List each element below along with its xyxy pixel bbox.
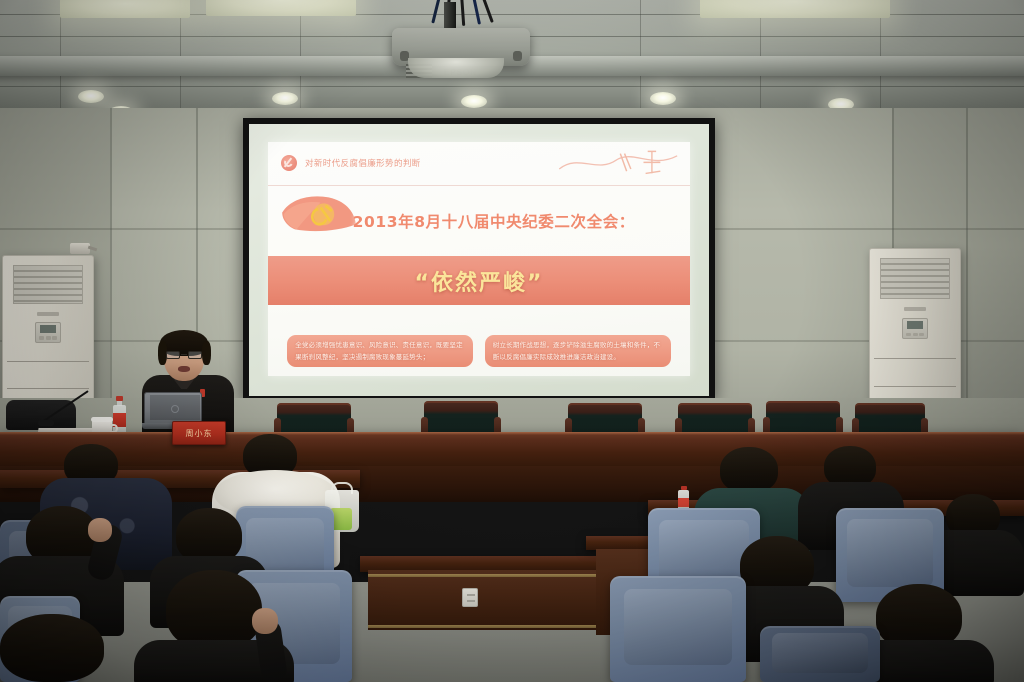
ceiling-downlight — [650, 92, 676, 105]
ac-button[interactable] — [46, 336, 51, 339]
slide-box-left-text: 全党必须增强忧患意识、风险意识、责任意识，既要坚定果断刹风整纪，坚决遏制腐败现象… — [295, 339, 465, 363]
power-outlet[interactable] — [462, 588, 478, 607]
conference-hall-photo: EPSON — [0, 0, 1024, 682]
screen-surface: 对新时代反腐倡廉形势的判断 — [249, 124, 709, 396]
slide-banner-text: “依然严峻” — [415, 265, 544, 297]
decorative-calligraphy-icon — [555, 147, 681, 180]
audience-member — [720, 447, 778, 493]
audience-seat[interactable] — [760, 626, 880, 682]
ceiling-projector: EPSON — [386, 0, 536, 84]
slide-banner: “依然严峻” — [268, 256, 689, 305]
ac-control-panel[interactable] — [35, 322, 60, 343]
ceiling-panel-light — [700, 0, 890, 18]
audience-member — [0, 614, 104, 682]
ac-display — [40, 325, 57, 333]
presentation-slide: 对新时代反腐倡廉形势的判断 — [268, 142, 689, 376]
ceiling-downlight — [272, 92, 298, 105]
ac-brand-logo — [37, 312, 59, 316]
ceiling-panel-light — [206, 0, 356, 16]
slide-box-left: 全党必须增强忧患意识、风险意识、责任意识，既要坚定果断刹风整纪，坚决遏制腐败现象… — [287, 335, 473, 367]
ceiling-downlight — [78, 90, 104, 103]
surveillance-camera — [70, 243, 96, 257]
nameplate: 周小东 — [172, 421, 226, 445]
party-emblem-icon — [281, 155, 297, 171]
presenter-mouth — [178, 366, 190, 372]
projector-cables — [432, 0, 496, 30]
slide-box-right-text: 树立长期作战思想，逐步铲除滋生腐败的土壤和条件，不断以反腐倡廉实际成效推进廉洁政… — [493, 339, 663, 363]
slide-content-boxes: 全党必须增强忧患意识、风险意识、责任意识，既要坚定果断刹风整纪，坚决遏制腐败现象… — [268, 305, 689, 375]
ac-vent-grille — [13, 265, 83, 304]
ac-brand-logo — [904, 307, 926, 311]
audience-hand — [252, 608, 278, 634]
ac-button[interactable] — [913, 333, 918, 337]
ac-button[interactable] — [906, 333, 911, 337]
slide-title-row: 2013年8月十八届中央纪委二次全会： — [268, 186, 689, 256]
ac-button[interactable] — [52, 336, 57, 339]
ac-display — [907, 321, 924, 329]
slide-box-right: 树立长期作战思想，逐步铲除滋生腐败的土壤和条件，不断以反腐倡廉实际成效推进廉洁政… — [485, 335, 671, 367]
nameplate-text: 周小东 — [186, 428, 213, 439]
air-conditioner-right — [869, 248, 961, 406]
presenter-glasses — [166, 351, 202, 359]
slide-title: 2013年8月十八届中央纪委二次全会： — [268, 210, 689, 232]
ceiling-downlight — [461, 95, 487, 108]
ac-vent-grille — [880, 258, 950, 299]
audience-seat[interactable] — [610, 576, 746, 682]
slide-header: 对新时代反腐倡廉形势的判断 — [268, 142, 689, 186]
ceiling-panel-light — [60, 0, 190, 18]
projection-screen: 对新时代反腐倡廉形势的判断 — [243, 118, 715, 400]
audience-hand — [88, 518, 112, 542]
slide-header-text: 对新时代反腐倡廉形势的判断 — [305, 157, 421, 169]
ac-control-panel[interactable] — [902, 318, 927, 340]
projector-lens — [408, 58, 504, 78]
ac-button[interactable] — [39, 336, 44, 339]
ac-button[interactable] — [919, 333, 924, 337]
audience-member — [166, 570, 262, 650]
